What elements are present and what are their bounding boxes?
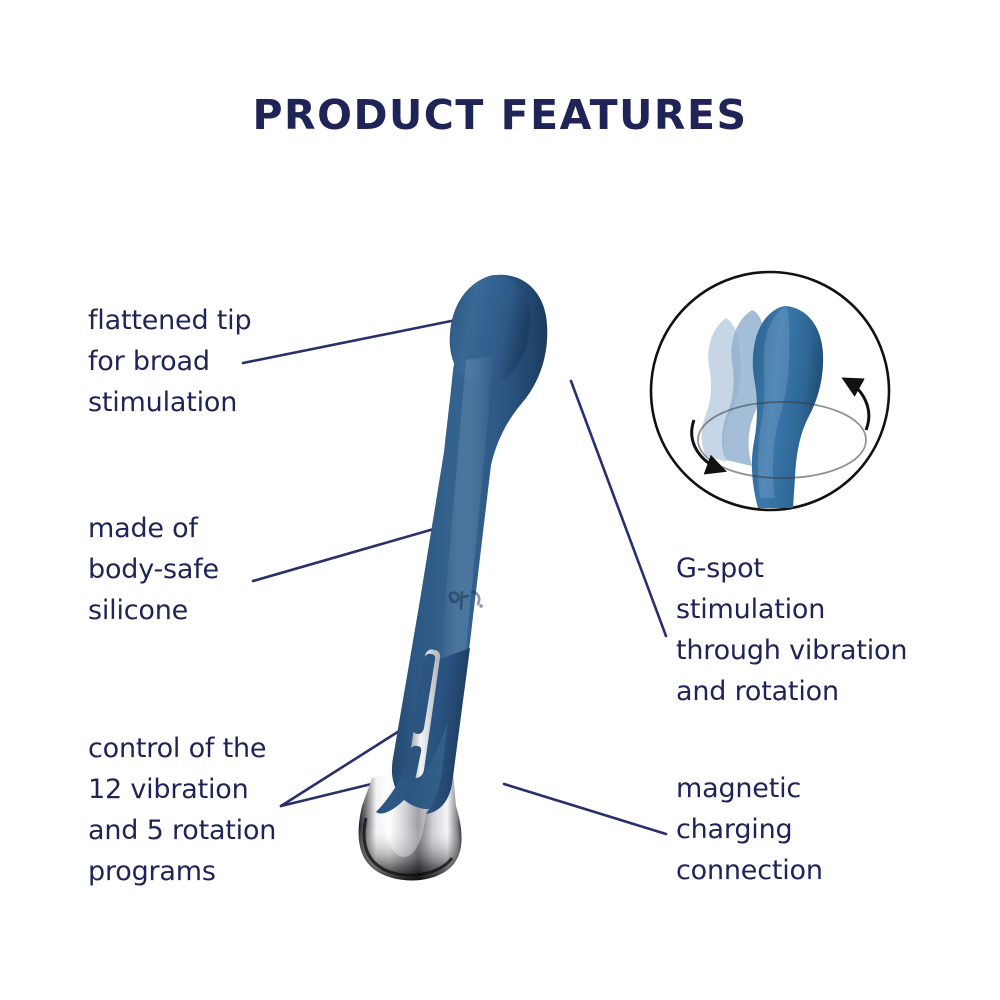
product-features-infographic: PRODUCT FEATURES (0, 0, 1000, 1000)
leader-line-magnetic (504, 784, 666, 834)
leader-line-gspot (571, 381, 666, 636)
rotation-inset (651, 272, 889, 510)
callout-body-safe: made of body-safe silicone (88, 508, 219, 631)
callout-gspot-stimulation: G-spot stimulation through vibration and… (676, 548, 907, 712)
callout-magnetic-charging: magnetic charging connection (676, 768, 823, 891)
callout-flattened-tip: flattened tip for broad stimulation (88, 300, 251, 423)
leader-line-flattened-tip (243, 318, 466, 363)
callout-control-programs: control of the 12 vibration and 5 rotati… (88, 728, 276, 892)
